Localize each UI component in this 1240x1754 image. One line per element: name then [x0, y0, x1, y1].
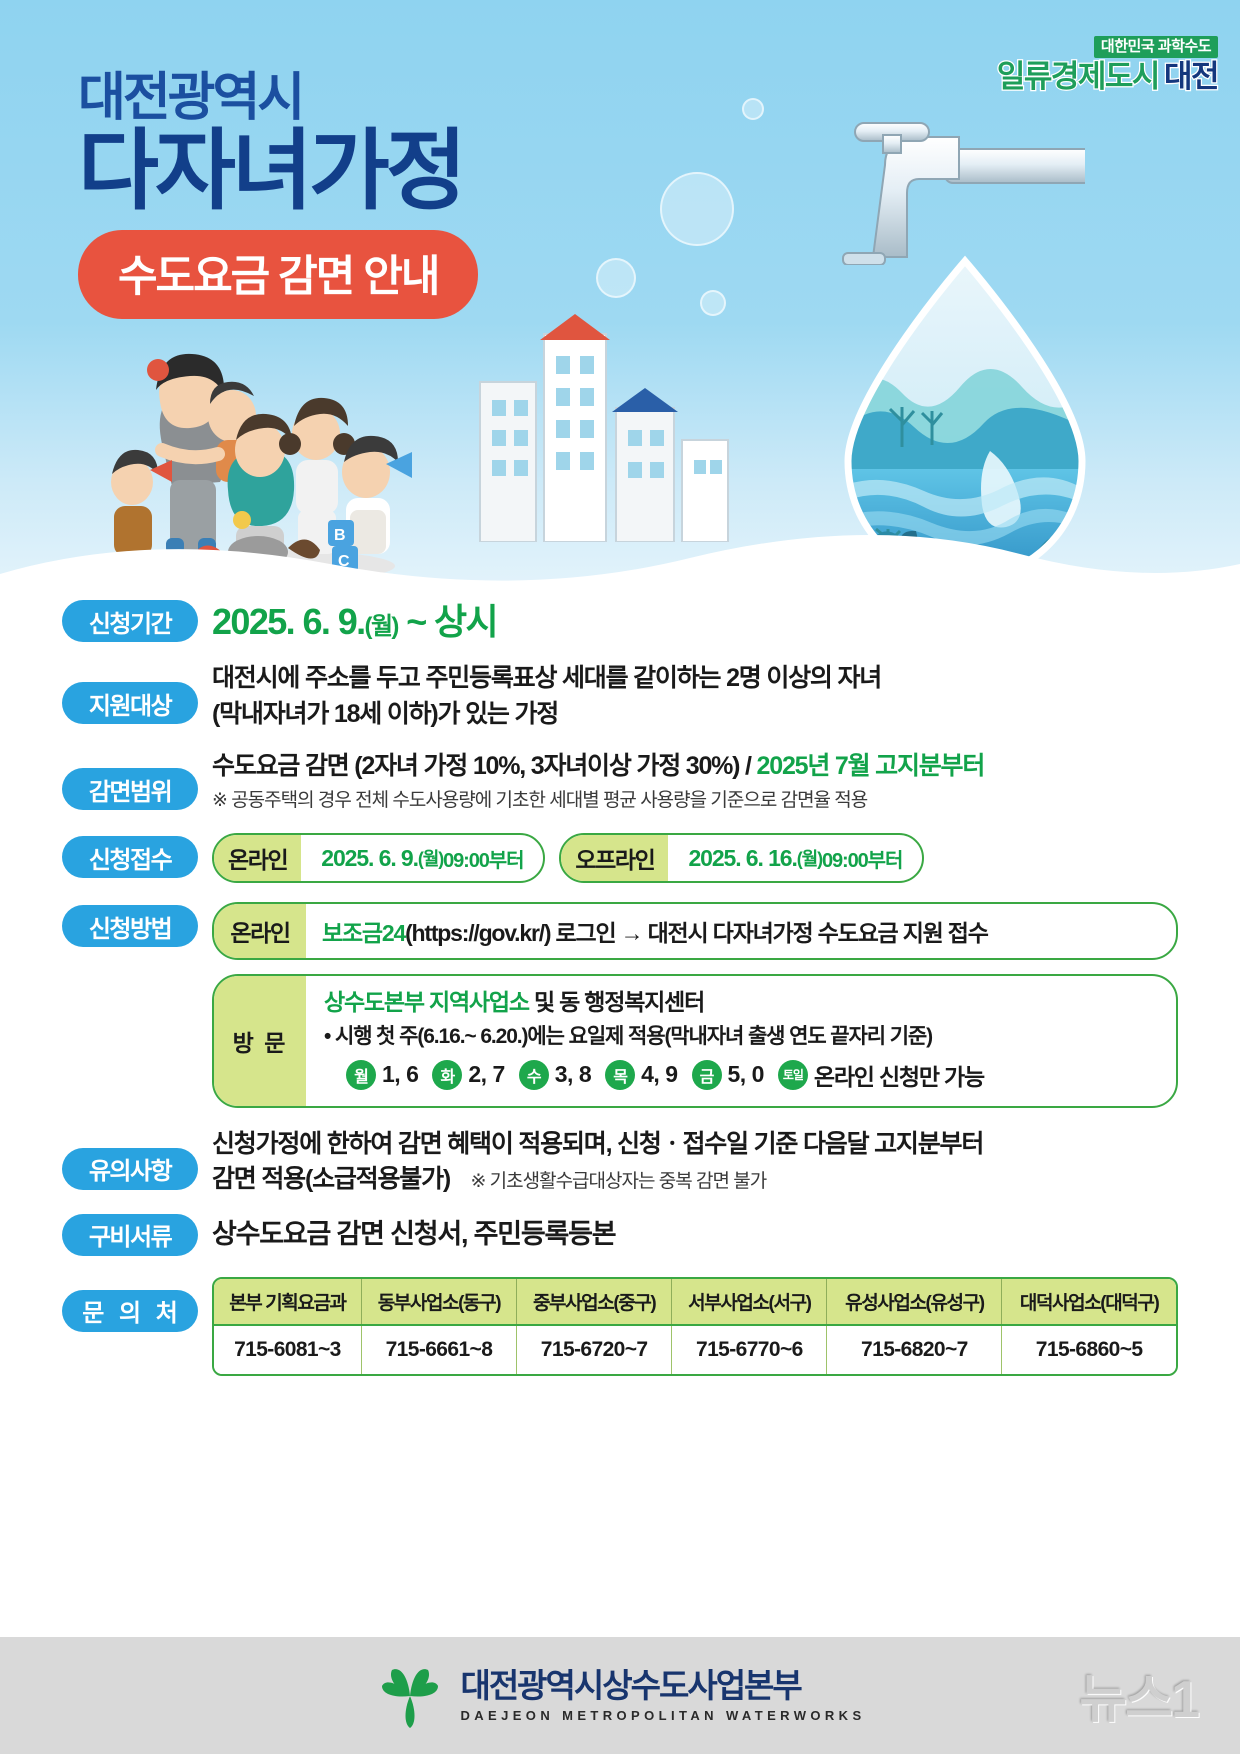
documents-body: 상수도요금 감면 신청서, 주민등록등본 — [212, 1214, 1178, 1253]
period-weekday: (월) — [365, 613, 398, 640]
reception-offline-pill: 오프라인 2025. 6. 16.(월) 09:00부터 — [559, 833, 924, 883]
contact-header-yuseong: 유성사업소(유성구) — [827, 1279, 1002, 1325]
brand-wordmark-green: 일류경제도시 — [997, 59, 1159, 94]
contact-table-row: 715-6081~3 715-6661~8 715-6720~7 715-677… — [214, 1325, 1176, 1374]
bubble-icon — [660, 172, 734, 246]
tag-eligibility: 지원대상 — [62, 682, 198, 724]
brand-tagline: 대한민국 과학수도 — [1094, 36, 1218, 58]
method-visit-block: 방 문 상수도본부 지역사업소 및 동 행정복지센터 • 시행 첫 주(6.16… — [212, 974, 1178, 1107]
content-area: 신청기간 2025. 6. 9.(월) ~ 상시 지원대상 대전시에 주소를 두… — [0, 600, 1240, 1390]
hero-banner: 대한민국 과학수도 일류경제도시대전 — [0, 0, 1240, 620]
notice-line2: 감면 적용(소급적용불가) ※ 기초생활수급대상자는 중복 감면 불가 — [212, 1162, 1178, 1198]
eligibility-body: 대전시에 주소를 두고 주민등록표상 세대를 같이하는 2명 이상의 자녀 (막… — [212, 660, 1178, 732]
contact-header-jungbu: 중부사업소(중구) — [517, 1279, 672, 1325]
method-visit-key: 방 문 — [214, 976, 306, 1105]
day-chip-tue: 화 — [432, 1060, 462, 1090]
day-chip-fri: 금 — [692, 1060, 722, 1090]
visit-office-rest: 및 동 행정복지센터 — [529, 989, 704, 1015]
row-application-method: 신청방법 온라인 보조금24(https://gov.kr/) 로그인 → 대전… — [0, 901, 1240, 1107]
contact-phone-dongbu: 715-6661~8 — [361, 1325, 516, 1374]
method-online-key: 온라인 — [214, 904, 306, 958]
eligibility-line2: (막내자녀가 18세 이하)가 있는 가정 — [212, 697, 1178, 733]
tag-application-period: 신청기간 — [62, 600, 198, 642]
documents-value: 상수도요금 감면 신청서, 주민등록등본 — [212, 1215, 1178, 1253]
notice-line2-extra: ※ 기초생활수급대상자는 중복 감면 불가 — [470, 1171, 766, 1192]
day-nums-fri: 5, 0 — [728, 1061, 764, 1088]
footer-bar: 대전광역시상수도사업본부 DAEJEON METROPOLITAN WATERW… — [0, 1637, 1240, 1754]
bubble-icon — [596, 258, 636, 298]
visit-office-highlight: 상수도본부 지역사업소 — [324, 989, 529, 1015]
method-online-steps: (https://gov.kr/) 로그인 → 대전시 다자녀가정 수도요금 지… — [405, 920, 988, 946]
notice-line1: 신청가정에 한하여 감면 혜택이 적용되며, 신청ㆍ접수일 기준 다음달 고지분… — [212, 1127, 1178, 1163]
contact-phone-daedeok: 715-6860~5 — [1002, 1325, 1176, 1374]
tag-application-method: 신청방법 — [62, 905, 198, 947]
faucet-illustration — [825, 105, 1085, 265]
discount-scope-note: ※ 공동주택의 경우 전체 수도사용량에 기초한 세대별 평균 사용량을 기준으… — [212, 788, 1178, 815]
contact-header-seobu: 서부사업소(서구) — [672, 1279, 827, 1325]
waterworks-flower-icon — [374, 1660, 446, 1732]
notice-body: 신청가정에 한하여 감면 혜택이 적용되며, 신청ㆍ접수일 기준 다음달 고지분… — [212, 1126, 1178, 1198]
tag-documents: 구비서류 — [62, 1214, 198, 1256]
day-nums-wed: 3, 8 — [555, 1061, 591, 1088]
row-contact: 문 의 처 본부 기획요금과 동부사업소(동구) 중부사업소(중구) 서부사업소… — [0, 1276, 1240, 1376]
reception-offline-date: 2025. 6. 16. — [688, 845, 796, 872]
day-chip-wed: 수 — [519, 1060, 549, 1090]
day-chip-weekend: 토일 — [778, 1060, 808, 1090]
period-tail: ~ 상시 — [398, 601, 497, 642]
discount-scope-body: 수도요금 감면 (2자녀 가정 10%, 3자녀이상 가정 30%) / 202… — [212, 748, 1178, 814]
row-documents: 구비서류 상수도요금 감면 신청서, 주민등록등본 — [0, 1214, 1240, 1256]
day-chip-mon: 월 — [346, 1060, 376, 1090]
eligibility-line1: 대전시에 주소를 두고 주민등록표상 세대를 같이하는 2명 이상의 자녀 — [212, 661, 1178, 697]
row-discount-scope: 감면범위 수도요금 감면 (2자녀 가정 10%, 3자녀이상 가정 30%) … — [0, 748, 1240, 814]
day-nums-tue: 2, 7 — [468, 1061, 504, 1088]
visit-schedule-note: • 시행 첫 주(6.16.~ 6.20.)에는 요일제 적용(막내자녀 출생 … — [324, 1023, 1160, 1050]
scope-highlight: 2025년 7월 고지분부터 — [757, 752, 985, 780]
row-eligibility: 지원대상 대전시에 주소를 두고 주민등록표상 세대를 같이하는 2명 이상의 … — [0, 660, 1240, 732]
visit-location-line: 상수도본부 지역사업소 및 동 행정복지센터 — [324, 988, 1160, 1018]
tag-contact: 문 의 처 — [62, 1290, 198, 1332]
day-chip-thu: 목 — [605, 1060, 635, 1090]
waterworks-text-block: 대전광역시상수도사업본부 DAEJEON METROPOLITAN WATERW… — [460, 1669, 865, 1723]
contact-header-daedeok: 대덕사업소(대덕구) — [1002, 1279, 1176, 1325]
brand-wordmark-blue: 대전 — [1164, 59, 1218, 94]
contact-header-hq: 본부 기획요금과 — [214, 1279, 361, 1325]
hero-title-line2: 다자녀가정 — [78, 126, 478, 216]
method-online-service: 보조금24 — [322, 920, 405, 946]
reception-online-key: 온라인 — [214, 835, 301, 881]
contact-table-header-row: 본부 기획요금과 동부사업소(동구) 중부사업소(중구) 서부사업소(서구) 유… — [214, 1279, 1176, 1325]
reception-online-weekday: (월) — [418, 845, 443, 871]
reception-body: 온라인 2025. 6. 9.(월) 09:00부터 오프라인 2025. 6.… — [212, 832, 1178, 883]
tag-reception: 신청접수 — [62, 836, 198, 878]
row-notice: 유의사항 신청가정에 한하여 감면 혜택이 적용되며, 신청ㆍ접수일 기준 다음… — [0, 1126, 1240, 1198]
method-online-text: 보조금24(https://gov.kr/) 로그인 → 대전시 다자녀가정 수… — [306, 904, 1176, 958]
application-period-value: 2025. 6. 9.(월) ~ 상시 — [212, 601, 1178, 642]
weekend-note: 온라인 신청만 가능 — [814, 1058, 984, 1092]
row-reception: 신청접수 온라인 2025. 6. 9.(월) 09:00부터 오프라인 202… — [0, 832, 1240, 883]
visit-day-badges: 월1, 6 화2, 7 수3, 8 목4, 9 금5, 0 토일온라인 신청만 … — [324, 1058, 1160, 1092]
day-nums-mon: 1, 6 — [382, 1061, 418, 1088]
tag-discount-scope: 감면범위 — [62, 768, 198, 810]
tag-notice: 유의사항 — [62, 1148, 198, 1190]
waterworks-logo: 대전광역시상수도사업본부 DAEJEON METROPOLITAN WATERW… — [374, 1660, 865, 1732]
period-date: 2025. 6. 9. — [212, 601, 365, 642]
reception-offline-key: 오프라인 — [561, 835, 668, 881]
day-nums-thu: 4, 9 — [641, 1061, 677, 1088]
city-brand-logo: 대한민국 과학수도 일류경제도시대전 — [997, 36, 1218, 92]
waterworks-name-korean: 대전광역시상수도사업본부 — [460, 1669, 865, 1702]
row-application-period: 신청기간 2025. 6. 9.(월) ~ 상시 — [0, 600, 1240, 642]
contact-phone-yuseong: 715-6820~7 — [827, 1325, 1002, 1374]
contact-phone-jungbu: 715-6720~7 — [517, 1325, 672, 1374]
hero-title-group: 대전광역시 다자녀가정 수도요금 감면 안내 — [78, 72, 478, 319]
reception-online-value: 2025. 6. 9.(월) 09:00부터 — [301, 835, 543, 881]
contact-table-wrapper: 본부 기획요금과 동부사업소(동구) 중부사업소(중구) 서부사업소(서구) 유… — [212, 1277, 1178, 1376]
contact-phone-seobu: 715-6770~6 — [672, 1325, 827, 1374]
application-period-body: 2025. 6. 9.(월) ~ 상시 — [212, 600, 1178, 642]
news-watermark: 뉴스1 — [1079, 1657, 1198, 1732]
contact-table: 본부 기획요금과 동부사업소(동구) 중부사업소(중구) 서부사업소(서구) 유… — [214, 1279, 1176, 1374]
notice-line2-bold: 감면 적용(소급적용불가) — [212, 1165, 450, 1193]
poster-root: 대한민국 과학수도 일류경제도시대전 — [0, 0, 1240, 1754]
contact-phone-hq: 715-6081~3 — [214, 1325, 361, 1374]
discount-scope-line1: 수도요금 감면 (2자녀 가정 10%, 3자녀이상 가정 30%) / 202… — [212, 749, 1178, 785]
reception-online-time: 09:00부터 — [443, 844, 523, 873]
reception-offline-value: 2025. 6. 16.(월) 09:00부터 — [668, 835, 922, 881]
bubble-icon — [742, 98, 764, 120]
method-online-block: 온라인 보조금24(https://gov.kr/) 로그인 → 대전시 다자녀… — [212, 902, 1178, 960]
reception-offline-weekday: (월) — [797, 845, 822, 871]
method-visit-text: 상수도본부 지역사업소 및 동 행정복지센터 • 시행 첫 주(6.16.~ 6… — [306, 976, 1176, 1105]
reception-online-date: 2025. 6. 9. — [321, 845, 418, 872]
waterworks-name-english: DAEJEON METROPOLITAN WATERWORKS — [460, 1708, 865, 1723]
reception-offline-time: 09:00부터 — [822, 844, 902, 873]
scope-main: 수도요금 감면 (2자녀 가정 10%, 3자녀이상 가정 30%) / — [212, 752, 757, 780]
brand-wordmark: 일류경제도시대전 — [997, 61, 1218, 92]
contact-body: 본부 기획요금과 동부사업소(동구) 중부사업소(중구) 서부사업소(서구) 유… — [212, 1276, 1178, 1376]
application-method-body: 온라인 보조금24(https://gov.kr/) 로그인 → 대전시 다자녀… — [212, 901, 1178, 1107]
reception-online-pill: 온라인 2025. 6. 9.(월) 09:00부터 — [212, 833, 545, 883]
hero-title-line1: 대전광역시 — [78, 72, 478, 124]
reception-pill-row: 온라인 2025. 6. 9.(월) 09:00부터 오프라인 2025. 6.… — [212, 833, 1178, 883]
contact-header-dongbu: 동부사업소(동구) — [361, 1279, 516, 1325]
